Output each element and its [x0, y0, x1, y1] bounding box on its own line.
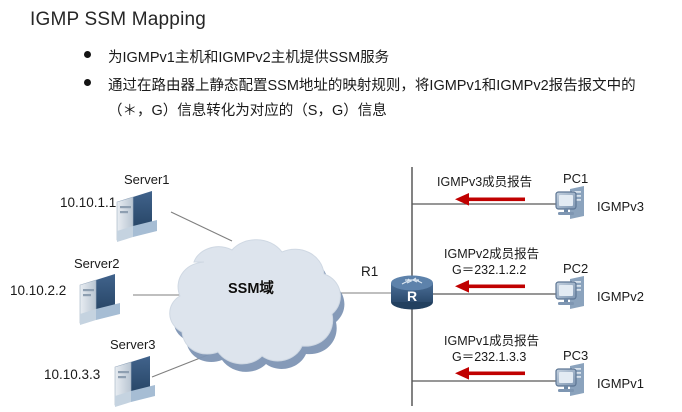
- server-ip-1: 10.10.1.1: [60, 195, 116, 210]
- server-ip-2: 10.10.2.2: [10, 283, 66, 298]
- host-version-2: IGMPv2: [597, 289, 644, 304]
- ssm-cloud-icon: [170, 240, 345, 372]
- server-icon-2: [80, 274, 120, 325]
- server-icon-1: [117, 191, 157, 242]
- host-name-2: PC2: [563, 261, 588, 276]
- svg-text:R: R: [407, 288, 417, 304]
- server-icon-3: [115, 356, 155, 407]
- network-topology-diagram: R: [0, 0, 682, 412]
- message-label-2b: G＝232.1.2.2: [452, 259, 526, 278]
- host-name-3: PC3: [563, 348, 588, 363]
- pc-icon-1: [556, 186, 584, 219]
- host-version-1: IGMPv3: [597, 199, 644, 214]
- pc-icon-3: [556, 363, 584, 396]
- host-name-1: PC1: [563, 171, 588, 186]
- server-name-1: Server1: [124, 172, 170, 187]
- host-version-3: IGMPv1: [597, 376, 644, 391]
- pc-icon-2: [556, 276, 584, 309]
- cloud-label: SSM域: [228, 277, 274, 298]
- server-name-2: Server2: [74, 256, 120, 271]
- router-label: R1: [361, 264, 378, 279]
- server-name-3: Server3: [110, 337, 156, 352]
- router-icon: R: [391, 276, 433, 310]
- server-ip-3: 10.10.3.3: [44, 367, 100, 382]
- left-arrow-icon-2: [455, 280, 525, 293]
- left-arrow-icon-3: [455, 367, 525, 380]
- message-label-3b: G＝232.1.3.3: [452, 346, 526, 365]
- message-label-1: IGMPv3成员报告: [437, 171, 532, 190]
